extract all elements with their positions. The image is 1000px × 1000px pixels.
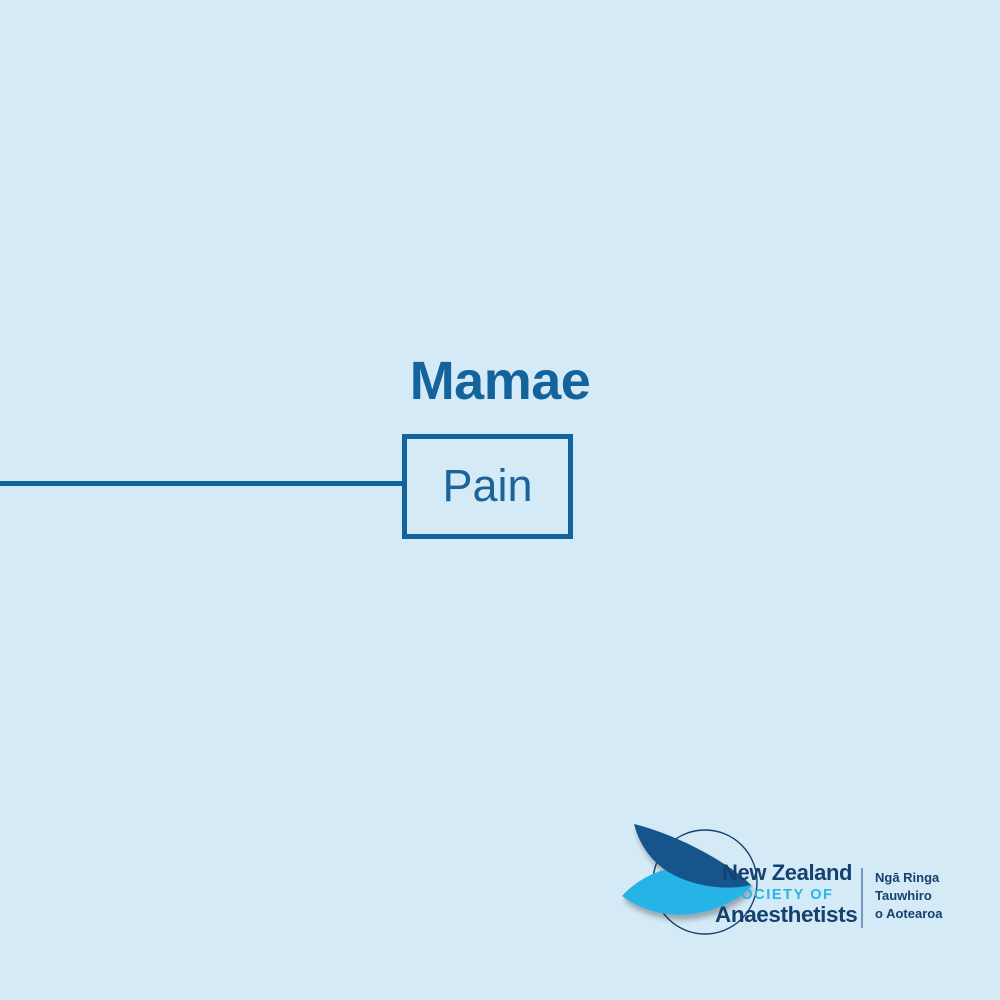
logo-maori-line2: Tauwhiro <box>875 888 932 903</box>
horizontal-connector-line <box>0 481 404 486</box>
nzsa-logo: New Zealand SOCIETY OF Anaesthetists Ngā… <box>612 812 962 952</box>
logo-org-line3: Anaesthetists <box>715 902 857 927</box>
logo-maori-line1: Ngā Ringa <box>875 870 940 885</box>
definition-box: Pain <box>402 434 573 539</box>
logo-maori-line3: o Aotearoa <box>875 906 943 921</box>
logo-org-line1: New Zealand <box>722 860 852 885</box>
logo-org-line2: SOCIETY OF <box>730 887 834 903</box>
page-title: Mamae <box>250 352 750 411</box>
slide-canvas: Mamae Pain <box>0 0 1000 1000</box>
definition-label: Pain <box>442 463 532 508</box>
